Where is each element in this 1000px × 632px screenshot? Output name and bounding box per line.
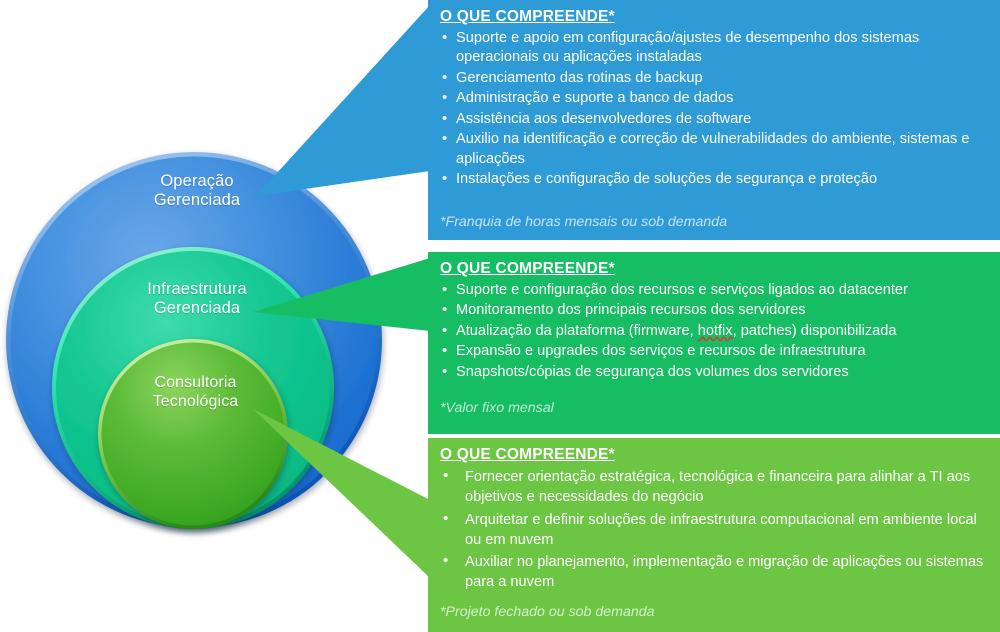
list-item: Administração e suporte a banco de dados — [440, 89, 990, 108]
list-item: Fornecer orientação estratégica, tecnoló… — [440, 467, 990, 508]
list-item: Auxilio na identificação e correção de v… — [440, 130, 990, 169]
text-after-misspelling: , patches) disponibilizada — [733, 323, 897, 339]
panel-footnote: *Franquia de horas mensais ou sob demand… — [440, 214, 727, 230]
panel-infraestrutura-gerenciada: O QUE COMPREENDE* Suporte e configuração… — [428, 252, 1000, 434]
concentric-circles-graphic: Operação Gerenciada Infraestrutura Geren… — [0, 0, 430, 632]
list-item: Monitoramento dos principais recursos do… — [440, 301, 990, 320]
panel-list: Fornecer orientação estratégica, tecnoló… — [440, 467, 990, 593]
list-item: Suporte e configuração dos recursos e se… — [440, 281, 990, 300]
text-before-misspelling: Atualização da plataforma (firmware, — [456, 323, 698, 339]
list-item: Snapshots/cópias de segurança dos volume… — [440, 363, 990, 382]
panel-heading: O QUE COMPREENDE* — [440, 260, 615, 278]
panel-heading: O QUE COMPREENDE* — [440, 8, 615, 26]
panel-list: Suporte e apoio em configuração/ajustes … — [440, 29, 990, 190]
panel-heading: O QUE COMPREENDE* — [440, 446, 615, 464]
circle-inner — [98, 339, 288, 529]
list-item: Instalações e configuração de soluções d… — [440, 170, 990, 189]
list-item: Assistência aos desenvolvedores de softw… — [440, 110, 990, 129]
list-item-with-spellcheck: Atualização da plataforma (firmware, hot… — [440, 322, 990, 341]
panel-footnote: *Valor fixo mensal — [440, 400, 554, 416]
diagram-canvas: Operação Gerenciada Infraestrutura Geren… — [0, 0, 1000, 632]
list-item: Arquitetar e definir soluções de infraes… — [440, 510, 990, 551]
panel-footnote: *Projeto fechado ou sob demanda — [440, 604, 655, 620]
list-item: Suporte e apoio em configuração/ajustes … — [440, 29, 990, 68]
panel-list: Suporte e configuração dos recursos e se… — [440, 281, 990, 382]
venn-svg — [0, 0, 430, 632]
panel-operacao-gerenciada: O QUE COMPREENDE* Suporte e apoio em con… — [428, 0, 1000, 240]
list-item: Auxiliar no planejamento, implementação … — [440, 552, 990, 593]
list-item: Expansão e upgrades dos serviços e recur… — [440, 342, 990, 361]
panel-consultoria-tecnologica: O QUE COMPREENDE* Fornecer orientação es… — [428, 438, 1000, 632]
misspelled-word: hotfix — [698, 323, 733, 339]
list-item: Gerenciamento das rotinas de backup — [440, 69, 990, 88]
